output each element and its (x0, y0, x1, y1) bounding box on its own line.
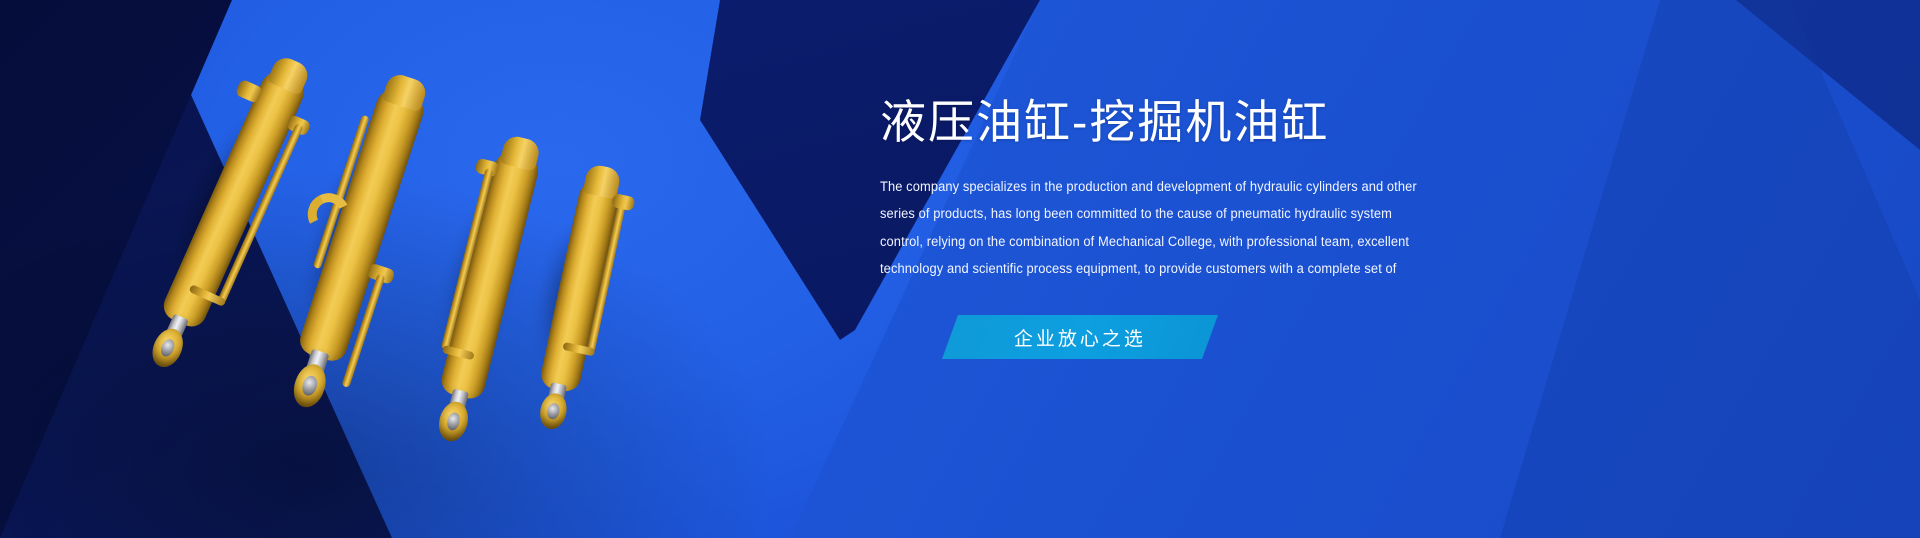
cylinder-eye-hole (445, 411, 461, 431)
hero-banner: 液压油缸-挖掘机油缸 The company specializes in th… (0, 0, 1920, 538)
description-line: control, relying on the combination of M… (880, 232, 1362, 253)
hydraulic-cylinder-2 (296, 85, 428, 364)
description-line: The company specializes in the productio… (880, 177, 1362, 198)
cylinder-eye-hole (300, 374, 319, 397)
cta-button-label: 企业放心之选 (1014, 324, 1146, 351)
banner-content: 液压油缸-挖掘机油缸 The company specializes in th… (880, 96, 1440, 287)
hydraulic-cylinder-4 (538, 178, 621, 394)
cta-button[interactable]: 企业放心之选 (942, 315, 1218, 359)
cylinder-eye-hole (546, 402, 560, 420)
banner-description: The company specializes in the productio… (880, 177, 1362, 280)
cylinder-eye-hole (158, 337, 176, 358)
product-image-hydraulic-cylinders (180, 28, 680, 448)
description-line: series of products, has long been commit… (880, 204, 1362, 225)
banner-title: 液压油缸-挖掘机油缸 (880, 96, 1440, 149)
description-line: technology and scientific process equipm… (880, 259, 1362, 280)
